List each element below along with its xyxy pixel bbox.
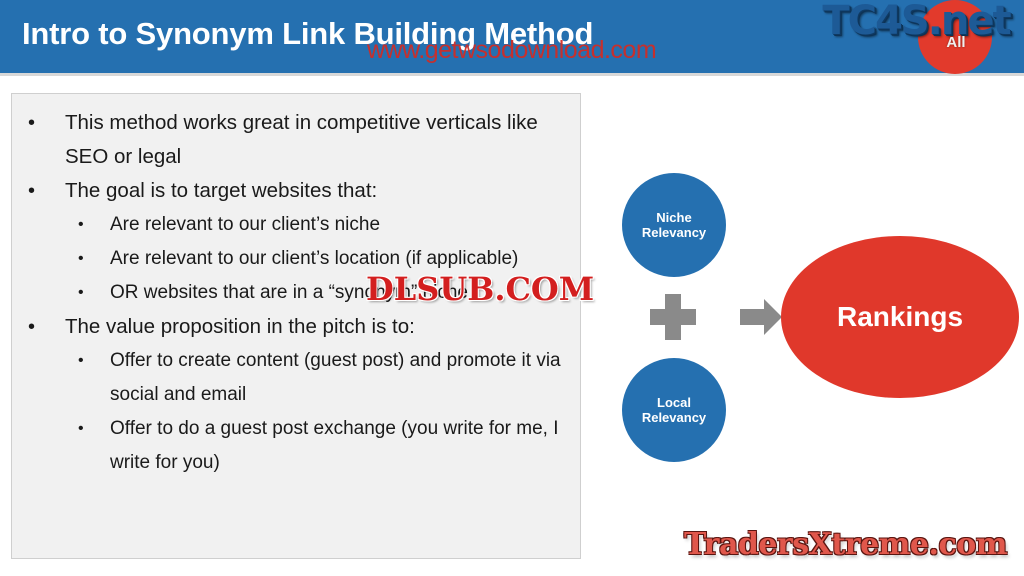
bullet-content-box: •This method works great in competitive … [11, 93, 581, 559]
bullet-item: •This method works great in competitive … [20, 106, 576, 174]
bullet-item: •Offer to do a guest post exchange (you … [20, 412, 576, 480]
bullet-text: The value proposition in the pitch is to… [65, 310, 576, 344]
bullet-marker-icon: • [28, 106, 65, 140]
bullet-marker-icon: • [78, 412, 110, 446]
bullet-marker-icon: • [78, 242, 110, 276]
bullet-item: •The value proposition in the pitch is t… [20, 310, 576, 344]
diagram-node-local-relevancy: Local Relevancy [622, 358, 726, 462]
bullet-text: The goal is to target websites that: [65, 174, 576, 208]
node-rankings-label: Rankings [837, 301, 963, 333]
watermark-dlsub: DLSUB.COM [366, 270, 594, 308]
diagram-node-niche-relevancy: Niche Relevancy [622, 173, 726, 277]
watermark-tradersxtreme: TradersXtreme.com [684, 527, 1007, 562]
logo-sub-text: All [920, 34, 992, 51]
bullet-text: This method works great in competitive v… [65, 106, 576, 174]
bullet-marker-icon: • [78, 344, 110, 378]
plus-icon [650, 294, 696, 340]
bullet-marker-icon: • [78, 276, 110, 310]
bullet-marker-icon: • [28, 174, 65, 208]
watermark-header-url: www.getwsodownload.com [367, 36, 656, 65]
tc4s-logo: TC4S.net All [814, 0, 1018, 74]
bullet-item: •The goal is to target websites that: [20, 174, 576, 208]
bullet-item: •Offer to create content (guest post) an… [20, 344, 576, 412]
node-niche-line2: Relevancy [642, 225, 706, 240]
bullet-item: •Are relevant to our client’s niche [20, 208, 576, 242]
bullet-marker-icon: • [28, 310, 65, 344]
diagram-node-rankings: Rankings [781, 236, 1019, 398]
bullet-marker-icon: • [78, 208, 110, 242]
bullet-text: Are relevant to our client’s niche [110, 208, 576, 242]
plus-vertical-bar [665, 294, 681, 340]
node-local-line2: Relevancy [642, 410, 706, 425]
right-arrow-icon [740, 299, 782, 335]
bullet-text: Offer to do a guest post exchange (you w… [110, 412, 576, 480]
node-local-line1: Local [657, 395, 691, 410]
bullet-text: Offer to create content (guest post) and… [110, 344, 576, 412]
node-niche-line1: Niche [656, 210, 691, 225]
